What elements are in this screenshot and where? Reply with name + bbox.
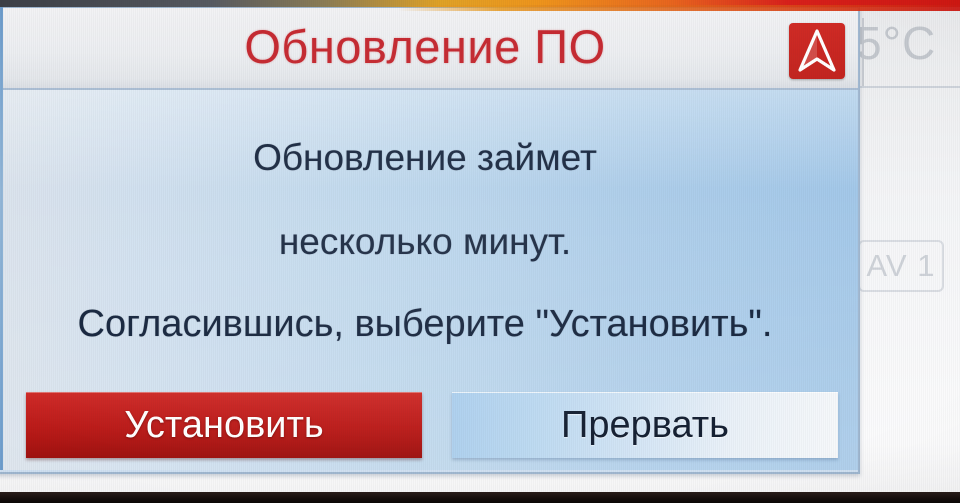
dialog-button-row: Установить Прервать <box>0 392 858 464</box>
install-button[interactable]: Установить <box>26 392 422 458</box>
dialog-title: Обновление ПО <box>0 18 858 76</box>
dialog-titlebar: Обновление ПО <box>0 8 858 90</box>
dialog-left-border <box>0 6 3 470</box>
software-update-dialog: Обновление ПО Обновление займет нескольк… <box>0 6 860 474</box>
av-source-badge: AV 1 <box>858 240 944 292</box>
dialog-message-line-1: Обновление займет <box>0 136 858 180</box>
outside-temperature: 5°C <box>856 16 960 70</box>
background-rule <box>858 86 960 88</box>
screen-top-edge-glow <box>398 5 960 11</box>
head-unit-screen: 5°C AV 1 Обновление ПО Обновление займет… <box>0 0 960 503</box>
dialog-message-line-2: несколько минут. <box>0 220 858 264</box>
dialog-message-line-3: Согласившись, выберите "Установить". <box>0 302 858 346</box>
abort-button[interactable]: Прервать <box>452 392 838 458</box>
dialog-body: Обновление займет несколько минут. Согла… <box>0 90 858 470</box>
screen-bottom-edge-band <box>0 492 960 503</box>
navigation-arrow-icon <box>789 23 845 79</box>
